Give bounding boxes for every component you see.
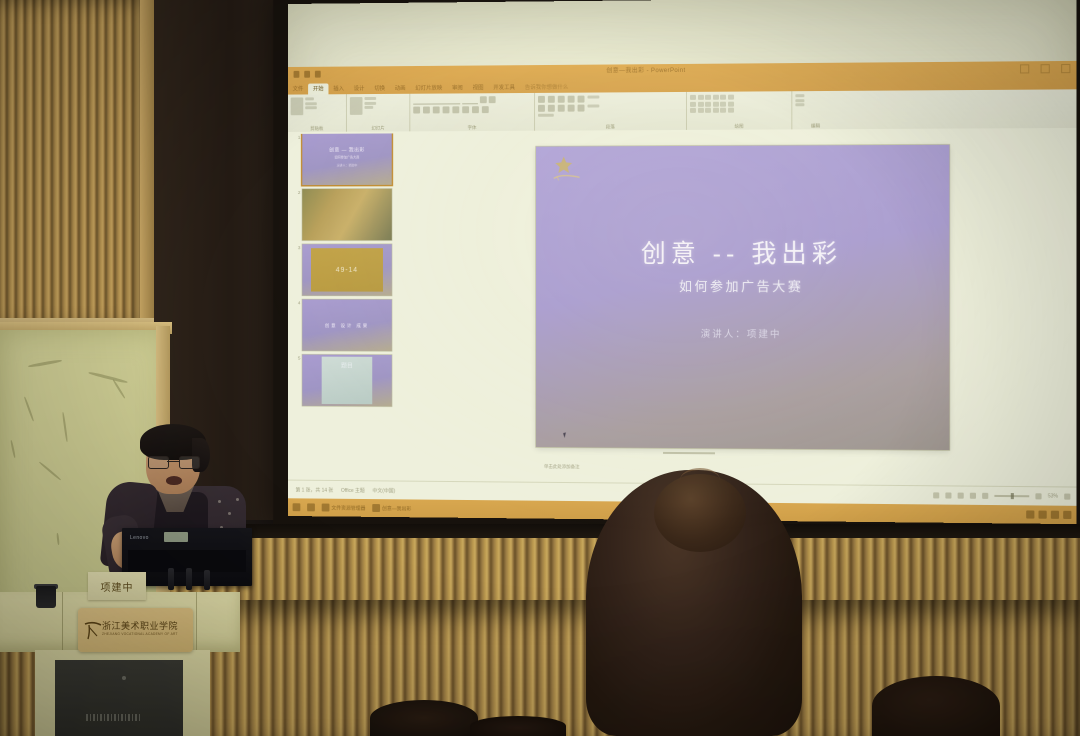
- decrease-font-icon[interactable]: [489, 96, 496, 103]
- ribbon-group-slides[interactable]: 幻灯片: [347, 94, 410, 132]
- slide-thumbnail-4[interactable]: 创意 设计 成果: [302, 299, 391, 351]
- columns-icon[interactable]: [578, 105, 585, 112]
- thumb-title: 题目: [302, 361, 391, 370]
- taskbar-item-label: 创意—我出彩: [382, 505, 411, 512]
- slide-presenter-line[interactable]: 演讲人：项建中: [536, 326, 949, 341]
- language-label: 中文(中国): [373, 487, 396, 494]
- explorer-icon[interactable]: [322, 504, 330, 512]
- thumbnail-number: 4: [294, 299, 301, 307]
- network-icon[interactable]: [1026, 510, 1034, 518]
- projector-screen: 创意—我出彩 - PowerPoint 登录 共享 文件 开始 插入 设计 切换…: [288, 0, 1077, 524]
- microphone-1: [168, 568, 174, 590]
- slideshow-icon[interactable]: [970, 493, 976, 499]
- thumbnail-number: 2: [294, 189, 301, 197]
- thermos-cup: [36, 586, 56, 608]
- cut-icon[interactable]: [305, 97, 314, 100]
- powerpoint-icon[interactable]: [372, 504, 380, 512]
- audience-head-center: [370, 700, 478, 736]
- fit-to-window-icon[interactable]: [1064, 494, 1070, 500]
- ribbon-group-paragraph[interactable]: 段落: [535, 92, 687, 131]
- font-size-combo[interactable]: [462, 96, 478, 104]
- ribbon-group-font[interactable]: 字体: [410, 93, 535, 131]
- slide-counter: 第 1 张，共 14 张: [296, 486, 334, 493]
- laptop-sticker: [164, 532, 188, 542]
- copy-icon[interactable]: [305, 102, 317, 105]
- reset-icon[interactable]: [364, 101, 376, 104]
- align-right-icon[interactable]: [558, 105, 565, 112]
- thumb-title: 创意 — 我出彩: [302, 146, 391, 153]
- bullets-icon[interactable]: [538, 96, 545, 103]
- wall-frame-left: [140, 0, 154, 332]
- thumb-title: 49-14: [302, 244, 391, 295]
- tell-me-search[interactable]: 告诉我你想做什么: [520, 82, 573, 93]
- underline-icon[interactable]: [433, 106, 440, 113]
- ruler-mark: [663, 452, 715, 454]
- slide-thumbnail-2[interactable]: [302, 189, 391, 240]
- notification-icon[interactable]: [1063, 511, 1071, 519]
- ribbon[interactable]: 剪贴板 幻灯片: [288, 89, 1077, 133]
- podium-indicator: [122, 676, 126, 680]
- ribbon-group-drawing[interactable]: 绘图: [687, 91, 792, 130]
- microphone-2: [186, 568, 192, 590]
- hair-strand: [680, 468, 720, 492]
- restore-icon[interactable]: [1041, 64, 1050, 73]
- thumb-title: 创意 设计 成果: [302, 323, 391, 329]
- plaque-chinese-name: 浙江美术职业学院: [102, 619, 178, 632]
- font-name-combo[interactable]: [413, 96, 460, 104]
- zoom-out-icon[interactable]: [982, 493, 988, 499]
- thumbnail-number: 1: [294, 134, 301, 142]
- shapes-gallery[interactable]: [690, 95, 734, 113]
- undo-icon[interactable]: [304, 71, 310, 78]
- thumbnail-number: 3: [294, 244, 301, 252]
- podium-front-panel: [55, 660, 183, 736]
- slide-title[interactable]: 创意 -- 我出彩: [536, 234, 949, 270]
- audience-head-right: [872, 676, 1000, 736]
- tab-view[interactable]: 视图: [468, 82, 489, 93]
- section-icon[interactable]: [364, 106, 373, 109]
- list-item[interactable]: 3 49-14: [294, 244, 395, 295]
- editor-workarea: 1 创意 — 我出彩 如何参加广告大赛 演讲人：项建中 2 3: [288, 128, 1077, 488]
- tab-developer[interactable]: 开发工具: [488, 82, 520, 93]
- character-spacing-icon[interactable]: [462, 106, 469, 113]
- tab-file[interactable]: 文件: [288, 84, 308, 95]
- nameplate-text: 项建中: [88, 572, 146, 600]
- notes-placeholder: 单击此处添加备注: [544, 464, 580, 469]
- format-painter-icon[interactable]: [305, 106, 317, 109]
- list-item[interactable]: 2: [294, 189, 395, 241]
- align-text-icon[interactable]: [587, 104, 599, 107]
- new-slide-icon[interactable]: [350, 97, 363, 115]
- microphone-3: [204, 570, 210, 590]
- align-left-icon[interactable]: [538, 105, 545, 112]
- convert-to-smartart-icon[interactable]: [538, 114, 554, 117]
- ribbon-group-clipboard[interactable]: 剪贴板: [288, 94, 347, 132]
- podium-vents: [86, 714, 140, 721]
- tab-animations[interactable]: 动画: [390, 83, 411, 94]
- lenovo-logo: Lenovo: [130, 535, 149, 541]
- numbering-icon[interactable]: [548, 96, 555, 103]
- justify-icon[interactable]: [568, 105, 575, 112]
- plaque-english-name: ZHEJIANG VOCATIONAL ACADEMY OF ART: [102, 632, 178, 636]
- tab-home[interactable]: 开始: [308, 83, 328, 94]
- slide-thumbnail-1[interactable]: 创意 — 我出彩 如何参加广告大赛 演讲人：项建中: [302, 133, 391, 185]
- replace-icon[interactable]: [795, 99, 804, 102]
- taskbar-item-label: 文件资源管理器: [331, 504, 365, 511]
- ime-icon[interactable]: [1051, 511, 1059, 519]
- slide-thumbnail-panel[interactable]: 1 创意 — 我出彩 如何参加广告大赛 演讲人：项建中 2 3: [294, 133, 395, 481]
- brush-stroke-emblem-icon: [84, 618, 102, 640]
- slide-thumbnail-3[interactable]: 49-14: [302, 244, 391, 295]
- reading-view-icon[interactable]: [958, 493, 964, 499]
- italic-icon[interactable]: [423, 107, 430, 114]
- close-icon[interactable]: [1061, 64, 1070, 73]
- strikethrough-icon[interactable]: [452, 106, 459, 113]
- text-direction-icon[interactable]: [587, 96, 599, 99]
- zoom-slider[interactable]: [994, 495, 1029, 497]
- institution-plaque: 浙江美术职业学院 ZHEJIANG VOCATIONAL ACADEMY OF …: [78, 608, 193, 652]
- zoom-in-icon[interactable]: [1035, 493, 1041, 499]
- system-tray[interactable]: [1026, 510, 1071, 519]
- redo-icon[interactable]: [315, 71, 321, 78]
- theme-name: Office 主题: [341, 486, 365, 493]
- decrease-indent-icon[interactable]: [558, 96, 565, 103]
- tab-insert[interactable]: 插入: [329, 83, 349, 94]
- volume-icon[interactable]: [1039, 511, 1047, 519]
- quick-access-toolbar[interactable]: [290, 67, 321, 82]
- minimize-icon[interactable]: [1020, 64, 1029, 73]
- presenter-mouth: [166, 476, 182, 485]
- align-center-icon[interactable]: [548, 105, 555, 112]
- layout-icon[interactable]: [364, 97, 376, 100]
- search-icon[interactable]: [307, 503, 315, 511]
- slide-sorter-icon[interactable]: [945, 492, 951, 498]
- font-color-icon[interactable]: [482, 106, 489, 113]
- desk-nameplate: 项建中: [88, 572, 146, 600]
- tab-transitions[interactable]: 切换: [369, 83, 389, 94]
- thumb-subtitle: 如何参加广告大赛: [302, 154, 391, 159]
- thumb-presenter: 演讲人：项建中: [302, 163, 391, 167]
- tab-design[interactable]: 设计: [349, 83, 369, 94]
- increase-indent-icon[interactable]: [568, 96, 575, 103]
- academy-emblem-gold-icon: [550, 154, 584, 184]
- powerpoint-window: 创意—我出彩 - PowerPoint 登录 共享 文件 开始 插入 设计 切换…: [288, 0, 1077, 524]
- window-controls[interactable]: [1020, 61, 1070, 77]
- slide-subtitle[interactable]: 如何参加广告大赛: [536, 276, 949, 295]
- lecture-hall-scene: 创意—我出彩 - PowerPoint 登录 共享 文件 开始 插入 设计 切换…: [0, 0, 1080, 736]
- list-item[interactable]: 4 创意 设计 成果: [294, 299, 395, 351]
- zoom-slider-knob[interactable]: [1011, 493, 1014, 499]
- audience-head-left: [470, 716, 566, 736]
- change-case-icon[interactable]: [472, 106, 479, 113]
- document-title: 创意—我出彩 - PowerPoint: [606, 65, 685, 75]
- taskbar-item-explorer[interactable]: 文件资源管理器: [322, 504, 366, 512]
- normal-view-icon[interactable]: [933, 492, 939, 498]
- status-bar-right[interactable]: 53%: [933, 492, 1070, 499]
- zoom-level[interactable]: 53%: [1048, 493, 1058, 499]
- bold-icon[interactable]: [413, 107, 420, 114]
- line-spacing-icon[interactable]: [578, 96, 585, 103]
- tab-slideshow[interactable]: 幻灯片放映: [410, 83, 447, 94]
- taskbar-item-powerpoint[interactable]: 创意—我出彩: [372, 504, 411, 512]
- mouse-pointer-icon: [563, 431, 570, 438]
- list-item[interactable]: 5 题目: [294, 355, 395, 407]
- increase-font-icon[interactable]: [480, 96, 487, 103]
- ribbon-group-editing[interactable]: 编辑: [792, 91, 838, 129]
- list-item[interactable]: 1 创意 — 我出彩 如何参加广告大赛 演讲人：项建中: [294, 133, 395, 185]
- find-icon[interactable]: [795, 94, 804, 97]
- save-icon[interactable]: [294, 71, 300, 78]
- text-shadow-icon[interactable]: [443, 106, 450, 113]
- thumbnail-number: 5: [294, 355, 301, 363]
- select-icon[interactable]: [795, 103, 804, 106]
- start-icon[interactable]: [293, 503, 301, 511]
- paste-icon[interactable]: [291, 97, 304, 115]
- slide-editing-area[interactable]: 创意 -- 我出彩 如何参加广告大赛 演讲人：项建中 单击此处添加备注: [406, 132, 1068, 483]
- tab-review[interactable]: 审阅: [447, 82, 468, 93]
- wood-slat-wall-left: [0, 0, 152, 330]
- current-slide[interactable]: 创意 -- 我出彩 如何参加广告大赛 演讲人：项建中: [536, 145, 949, 450]
- slide-thumbnail-5[interactable]: 题目: [302, 355, 391, 407]
- eyeglasses-icon: [148, 456, 198, 467]
